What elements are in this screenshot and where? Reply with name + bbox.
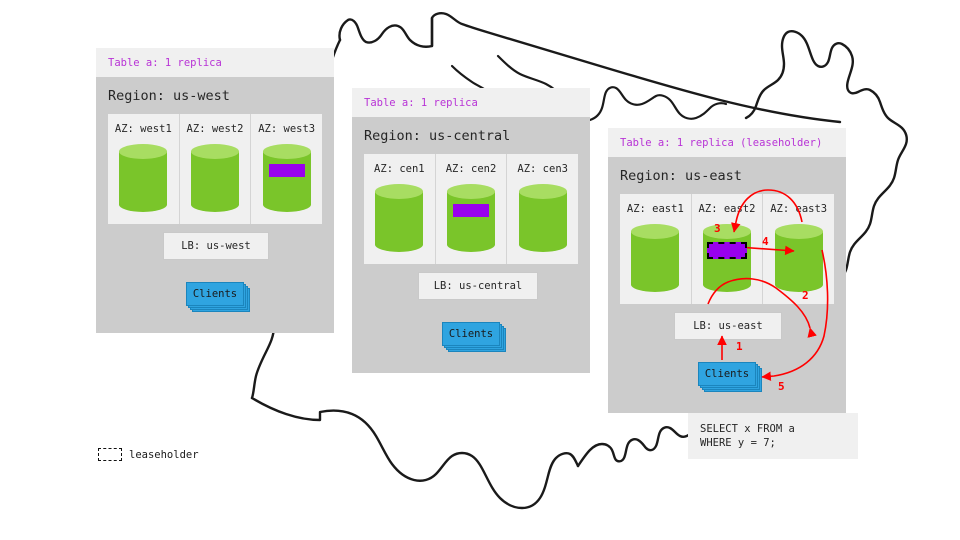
az-label-east2: AZ: east2	[699, 203, 756, 215]
region-name-us-east: Region: us-east	[608, 157, 846, 194]
az-strip-us-central: AZ: cen1 AZ: cen2 AZ: cen3	[364, 154, 578, 264]
cylinder-top	[119, 144, 167, 159]
az-card-east1[interactable]: AZ: east1	[620, 194, 691, 304]
region-table-label-us-west: Table a: 1 replica	[96, 48, 334, 77]
leaseholder-bar-east2	[707, 242, 747, 259]
cylinder-top	[703, 224, 751, 239]
az-card-cen3[interactable]: AZ: cen3	[506, 154, 578, 264]
cylinder-top	[263, 144, 311, 159]
cylinder-body	[263, 151, 311, 205]
cylinder-body	[375, 191, 423, 245]
clients-label-us-east: Clients	[698, 362, 756, 386]
az-card-west1[interactable]: AZ: west1	[108, 114, 179, 224]
replica-cylinder-cen1[interactable]	[375, 184, 423, 252]
clients-label-us-central: Clients	[442, 322, 500, 346]
region-table-label-us-east: Table a: 1 replica (leaseholder)	[608, 128, 846, 157]
clients-label-us-west: Clients	[186, 282, 244, 306]
cylinder-top	[519, 184, 567, 199]
replica-cylinder-west1[interactable]	[119, 144, 167, 212]
az-card-east2[interactable]: AZ: east2	[691, 194, 763, 304]
az-label-west2: AZ: west2	[187, 123, 244, 135]
cylinder-top	[191, 144, 239, 159]
az-card-cen2[interactable]: AZ: cen2	[435, 154, 507, 264]
replica-cylinder-west3[interactable]	[263, 144, 311, 212]
legend-leaseholder: leaseholder	[98, 448, 199, 461]
az-strip-us-west: AZ: west1 AZ: west2 AZ: west3	[108, 114, 322, 224]
replica-cylinder-east3[interactable]	[775, 224, 823, 292]
az-label-cen3: AZ: cen3	[517, 163, 568, 175]
replica-cylinder-cen2[interactable]	[447, 184, 495, 252]
load-balancer-us-central[interactable]: LB: us-central	[418, 272, 538, 300]
load-balancer-us-east[interactable]: LB: us-east	[674, 312, 782, 340]
cylinder-top	[631, 224, 679, 239]
az-label-cen1: AZ: cen1	[374, 163, 425, 175]
cylinder-top	[375, 184, 423, 199]
cylinder-top	[447, 184, 495, 199]
sql-query-box: SELECT x FROM a WHERE y = 7;	[688, 413, 858, 459]
clients-stack-us-central[interactable]: Clients	[442, 322, 500, 346]
az-card-east3[interactable]: AZ: east3	[762, 194, 834, 304]
az-label-east3: AZ: east3	[770, 203, 827, 215]
cylinder-body	[775, 231, 823, 285]
az-strip-us-east: AZ: east1 AZ: east2 AZ: east3	[620, 194, 834, 304]
leaseholder-bar-cen2	[453, 204, 489, 217]
region-name-us-west: Region: us-west	[96, 77, 334, 114]
replica-cylinder-east2[interactable]	[703, 224, 751, 292]
region-name-us-central: Region: us-central	[352, 117, 590, 154]
az-label-west1: AZ: west1	[115, 123, 172, 135]
region-table-label-us-central: Table a: 1 replica	[352, 88, 590, 117]
replica-cylinder-west2[interactable]	[191, 144, 239, 212]
cylinder-body	[119, 151, 167, 205]
cylinder-body	[447, 191, 495, 245]
legend-label: leaseholder	[129, 449, 199, 461]
load-balancer-us-west[interactable]: LB: us-west	[163, 232, 269, 260]
az-label-west3: AZ: west3	[258, 123, 315, 135]
az-label-cen2: AZ: cen2	[446, 163, 497, 175]
leaseholder-bar-west3	[269, 164, 305, 177]
replica-cylinder-east1[interactable]	[631, 224, 679, 292]
cylinder-body	[191, 151, 239, 205]
az-card-west2[interactable]: AZ: west2	[179, 114, 251, 224]
az-label-east1: AZ: east1	[627, 203, 684, 215]
leaseholder-swatch-icon	[98, 448, 122, 461]
az-card-cen1[interactable]: AZ: cen1	[364, 154, 435, 264]
clients-stack-us-east[interactable]: Clients	[698, 362, 756, 386]
cylinder-top	[775, 224, 823, 239]
cylinder-body	[631, 231, 679, 285]
diagram-canvas: Table a: 1 replica Region: us-west AZ: w…	[0, 0, 960, 540]
replica-cylinder-cen3[interactable]	[519, 184, 567, 252]
cylinder-body	[519, 191, 567, 245]
az-card-west3[interactable]: AZ: west3	[250, 114, 322, 224]
clients-stack-us-west[interactable]: Clients	[186, 282, 244, 306]
